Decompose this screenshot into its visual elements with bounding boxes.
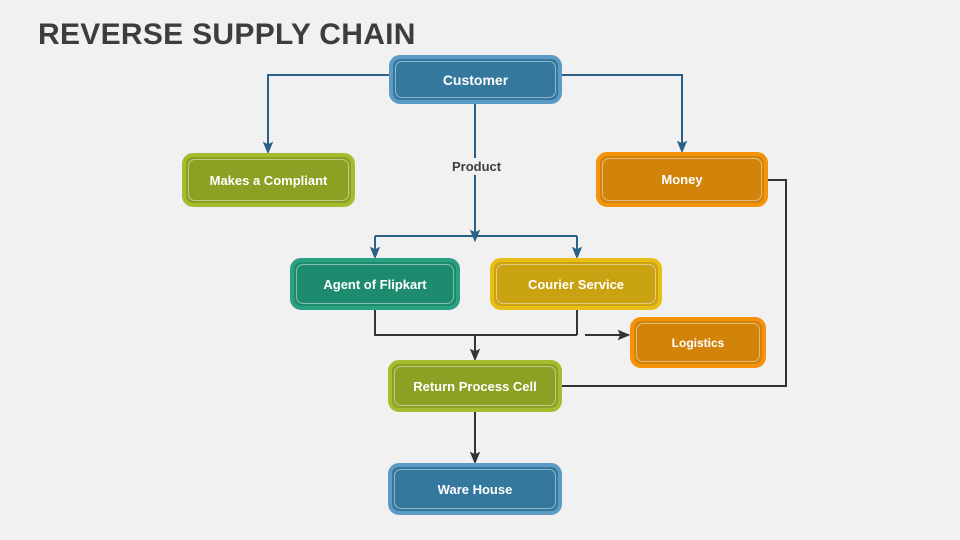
diagram-canvas: REVERSE SUPPLY CHAIN [0,0,960,540]
node-return-process-cell-label: Return Process Cell [407,379,543,394]
node-makes-a-compliant-label: Makes a Compliant [204,173,334,188]
edge-customer-compliant [268,75,389,148]
edge-label-product: Product [446,158,507,175]
node-courier-service[interactable]: Courier Service [490,258,662,310]
edge-customer-money [562,75,682,147]
node-ware-house-label: Ware House [432,482,519,497]
node-return-process-cell[interactable]: Return Process Cell [388,360,562,412]
node-customer-label: Customer [437,72,514,88]
node-courier-service-label: Courier Service [522,277,630,292]
node-agent-of-flipkart-label: Agent of Flipkart [317,277,432,292]
node-logistics[interactable]: Logistics [630,317,766,368]
edge-agent-join [375,310,577,335]
node-makes-a-compliant[interactable]: Makes a Compliant [182,153,355,207]
node-agent-of-flipkart[interactable]: Agent of Flipkart [290,258,460,310]
node-logistics-label: Logistics [666,336,731,350]
node-customer[interactable]: Customer [389,55,562,104]
node-money-label: Money [655,172,708,187]
node-ware-house[interactable]: Ware House [388,463,562,515]
node-money[interactable]: Money [596,152,768,207]
